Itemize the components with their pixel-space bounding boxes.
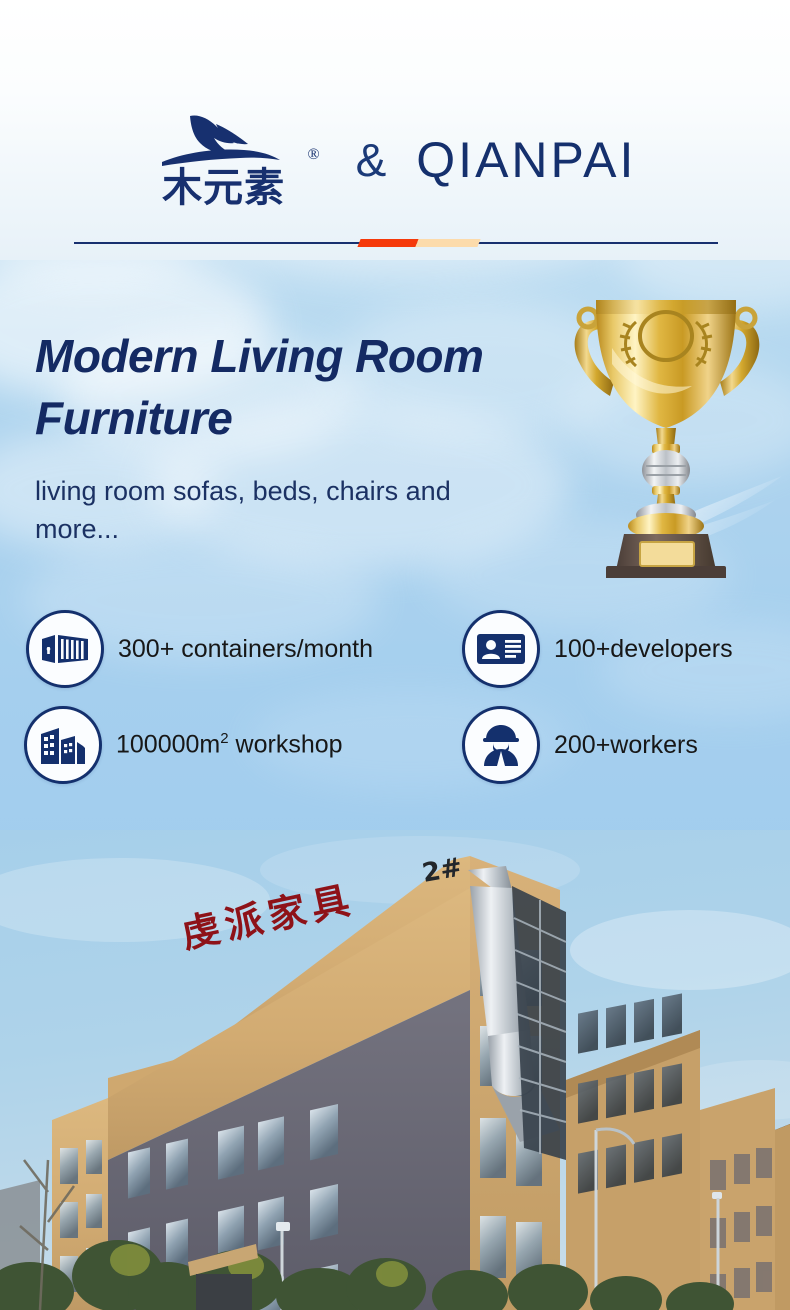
worker-hardhat-icon [480, 723, 522, 767]
gold-trophy-icon [560, 278, 790, 578]
header-bar: ® 木元素 & QIANPAI [0, 0, 790, 260]
badge-icon-wrap [24, 706, 102, 784]
id-card-icon [476, 631, 526, 667]
badge-containers[interactable]: 300+ containers/month [26, 610, 373, 688]
header-divider [74, 238, 718, 250]
hero-subtitle: living room sofas, beds, chairs and more… [35, 472, 535, 549]
factory-building-photo: 虔派家具 2# [0, 830, 790, 1310]
promo-banner: ® 木元素 & QIANPAI Modern Living Room Furni… [0, 0, 790, 1310]
logo-chinese-name: 木元素 [154, 168, 294, 208]
company-logo[interactable]: ® 木元素 [154, 112, 304, 212]
building-illustration: 虔派家具 2# [0, 830, 790, 1310]
badge-label-workers: 200+workers [554, 731, 698, 760]
workshop-area-value: 100000m [116, 731, 220, 759]
factory-buildings-icon [39, 724, 87, 766]
divider-accent-red [357, 239, 418, 247]
shipping-container-icon [40, 630, 90, 668]
badge-icon-wrap [26, 610, 104, 688]
badge-workers[interactable]: 200+workers [462, 706, 698, 784]
badge-workshop[interactable]: 100000m2 workshop [24, 706, 343, 784]
hero-headline: Modern Living Room Furniture [35, 326, 575, 449]
badge-label-workshop: 100000m2 workshop [116, 730, 343, 759]
workshop-area-unit: workshop [229, 731, 343, 759]
badge-label-containers: 300+ containers/month [118, 635, 373, 664]
registered-trademark-mark: ® [307, 146, 319, 164]
bird-wave-logo-icon [160, 112, 284, 172]
feature-badges: 300+ containers/month [0, 600, 790, 800]
workshop-area-sup: 2 [220, 730, 228, 747]
badge-icon-wrap [462, 706, 540, 784]
badge-label-developers: 100+developers [554, 635, 733, 664]
divider-accent-peach [415, 239, 480, 247]
badge-developers[interactable]: 100+developers [462, 610, 733, 688]
badge-icon-wrap [462, 610, 540, 688]
brand-name-qianpai: QIANPAI [416, 131, 636, 189]
ampersand-separator: & [356, 133, 387, 187]
